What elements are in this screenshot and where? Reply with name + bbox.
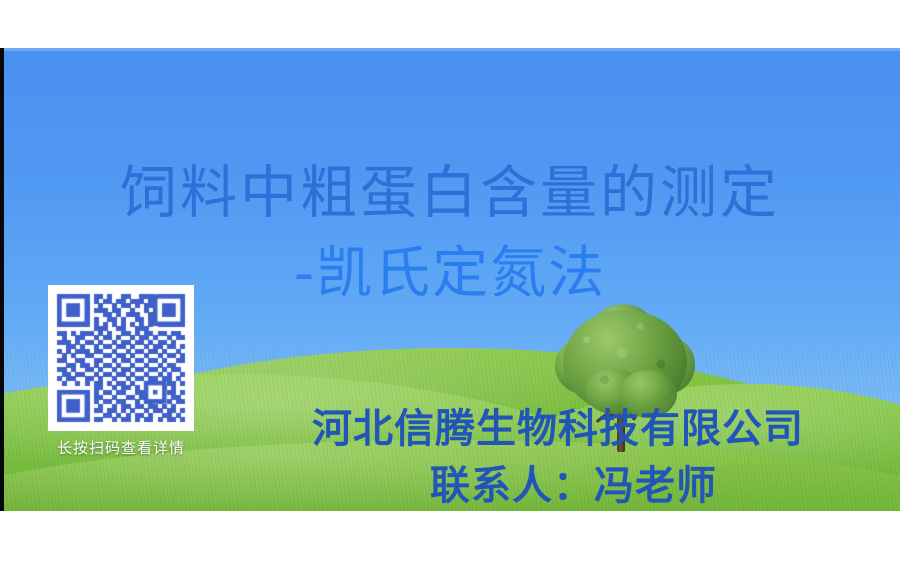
page-root: 饲料中粗蛋白含量的测定 -凯氏定氮法 长按扫码查看详情 河北信腾生物科技有限公司… [0,0,900,561]
qr-caption: 长按扫码查看详情 [48,439,194,457]
tree-leaf-texture [561,306,689,418]
contact-person: 联系人：冯老师 [430,463,717,509]
video-title-main: 饲料中粗蛋白含量的测定 [0,162,900,224]
bottom-white-margin [0,511,900,561]
company-name: 河北信腾生物科技有限公司 [312,406,804,452]
letterbox-left-edge [0,48,4,511]
top-white-margin [0,0,900,48]
qr-block: 长按扫码查看详情 [48,285,194,457]
video-frame-scene: 饲料中粗蛋白含量的测定 -凯氏定氮法 长按扫码查看详情 河北信腾生物科技有限公司… [0,48,900,511]
qr-code-image[interactable] [48,285,194,431]
player-progress-bar[interactable] [0,48,900,51]
video-player[interactable]: 饲料中粗蛋白含量的测定 -凯氏定氮法 长按扫码查看详情 河北信腾生物科技有限公司… [0,48,900,511]
